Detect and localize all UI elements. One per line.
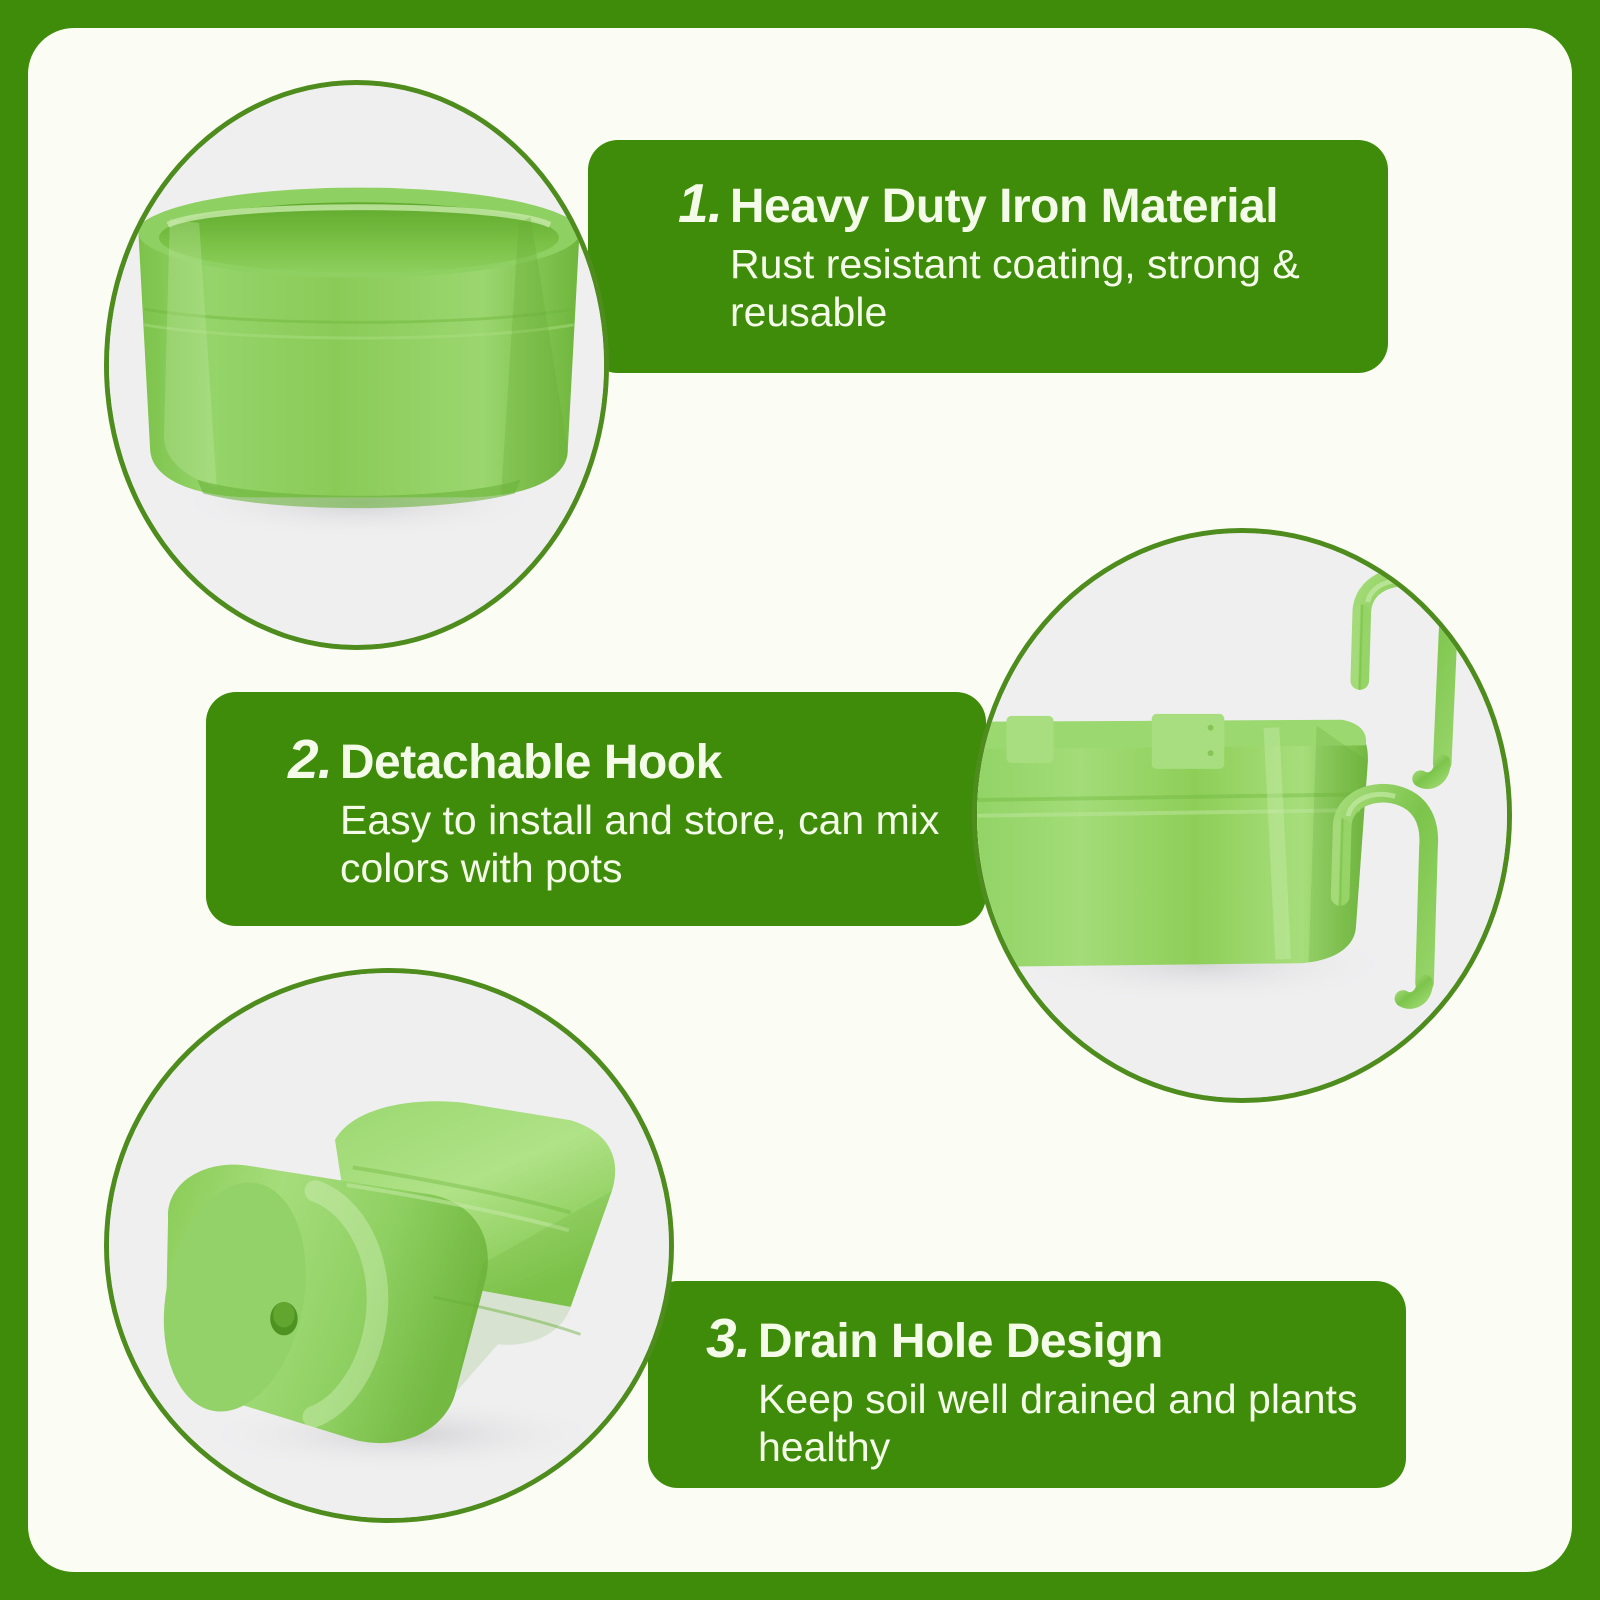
feature-2-heading-row: 2. Detachable Hook [288, 732, 966, 787]
feature-callout-2: 2. Detachable Hook Easy to install and s… [206, 692, 986, 926]
feature-3-title: Drain Hole Design [758, 1318, 1163, 1366]
feature-2-title: Detachable Hook [340, 739, 722, 787]
drain-hole-planter-illustration [109, 973, 669, 1518]
planter-with-hooks-illustration [977, 533, 1507, 1098]
feature-1-heading-row: 1. Heavy Duty Iron Material [678, 176, 1358, 231]
feature-3-number: 3. [706, 1311, 750, 1366]
feature-2-number: 2. [288, 732, 332, 787]
feature-1-number: 1. [678, 176, 722, 231]
feature-2-description: Easy to install and store, can mix color… [340, 796, 966, 893]
feature-1-title: Heavy Duty Iron Material [730, 183, 1278, 231]
feature-3-heading-row: 3. Drain Hole Design [706, 1311, 1386, 1366]
feature-1-description: Rust resistant coating, strong & reusabl… [730, 240, 1358, 337]
feature-callout-1: 1. Heavy Duty Iron Material Rust resista… [588, 140, 1388, 373]
feature-2-photo [972, 528, 1512, 1103]
feature-3-photo [104, 968, 674, 1523]
feature-1-photo [104, 80, 609, 650]
oval-planter-illustration [109, 85, 604, 645]
infographic-panel: 1. Heavy Duty Iron Material Rust resista… [28, 28, 1572, 1572]
feature-callout-3: 3. Drain Hole Design Keep soil well drai… [648, 1281, 1406, 1488]
feature-3-description: Keep soil well drained and plants health… [758, 1375, 1386, 1472]
